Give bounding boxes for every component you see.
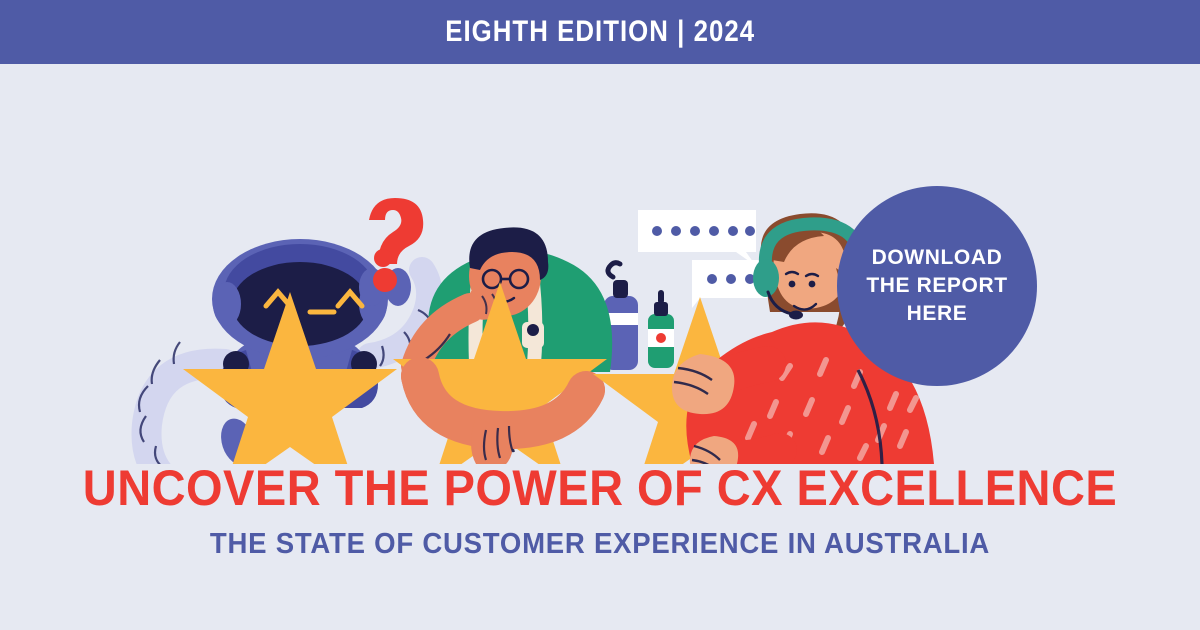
cta-line-1: DOWNLOAD	[872, 244, 1003, 272]
cta-line-2: THE REPORT	[866, 272, 1007, 300]
page-title: UNCOVER THE POWER OF CX EXCELLENCE	[36, 462, 1164, 515]
download-report-button[interactable]: DOWNLOAD THE REPORT HERE	[837, 186, 1037, 386]
headline-block: UNCOVER THE POWER OF CX EXCELLENCE THE S…	[0, 462, 1200, 560]
dropper-bottle-icon	[648, 290, 674, 368]
page-subtitle: THE STATE OF CUSTOMER EXPERIENCE IN AUST…	[30, 529, 1170, 561]
cta-line-3: HERE	[907, 300, 968, 328]
edition-banner: EIGHTH EDITION | 2024	[0, 0, 1200, 64]
speech-bubble-top	[638, 210, 756, 266]
question-mark-icon	[369, 198, 423, 267]
poster-canvas: EIGHTH EDITION | 2024	[0, 0, 1200, 630]
edition-banner-label: EIGHTH EDITION | 2024	[445, 15, 755, 49]
